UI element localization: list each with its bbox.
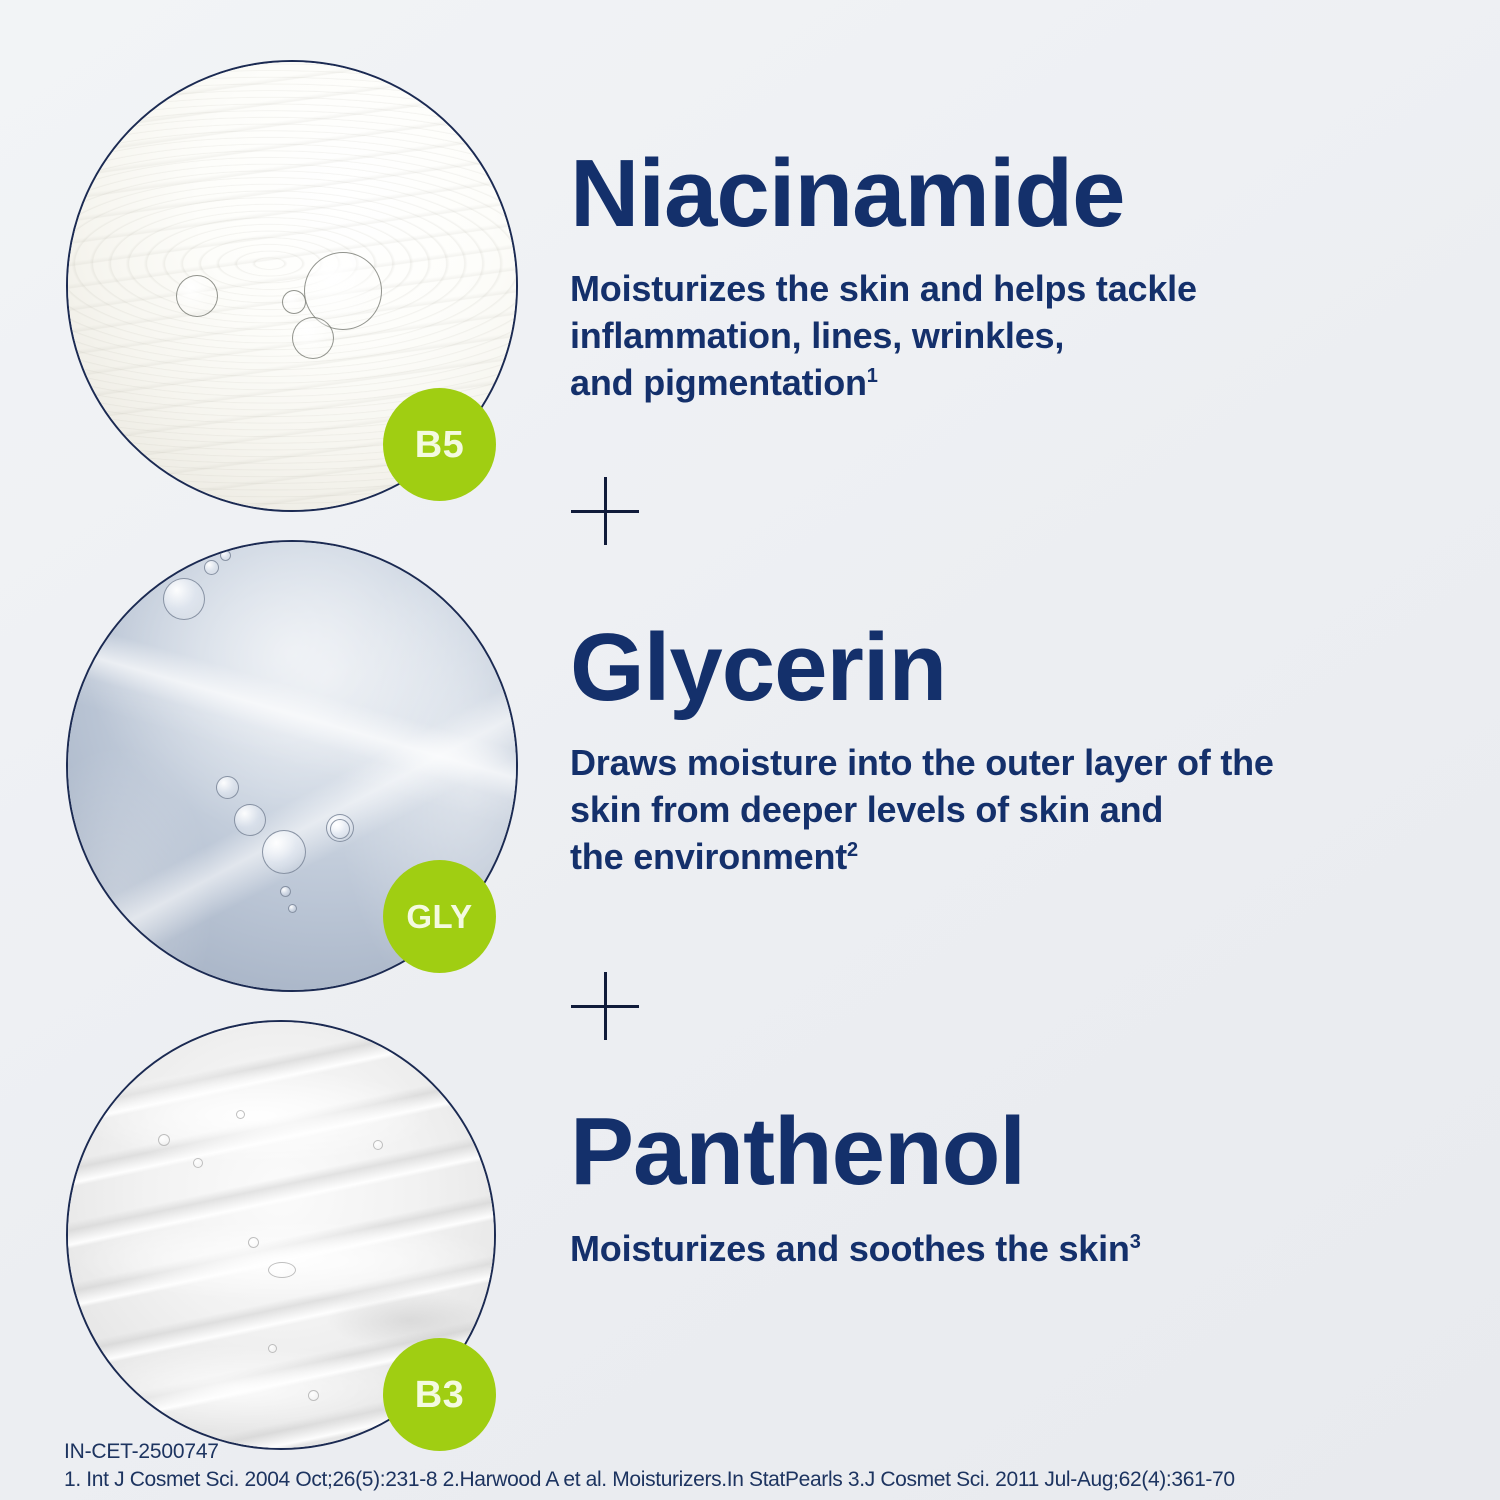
ingredient-block-panthenol: Panthenol Moisturizes and soothes the sk… <box>570 1104 1450 1273</box>
bubble-tiny-1 <box>204 560 219 575</box>
description-line: Draws moisture into the outer layer of t… <box>570 742 1274 783</box>
ingredient-description-panthenol: Moisturizes and soothes the skin3 <box>570 1226 1450 1273</box>
bubble-oval <box>268 1262 296 1278</box>
ingredient-block-glycerin: Glycerin Draws moisture into the outer l… <box>570 620 1470 880</box>
badge-gly: GLY <box>383 860 496 973</box>
ingredient-title-panthenol: Panthenol <box>570 1104 1450 1200</box>
bubble-5 <box>373 1140 383 1150</box>
badge-b3: B3 <box>383 1338 496 1451</box>
bubble-mid-1 <box>216 776 239 799</box>
bubble-medium <box>282 290 306 314</box>
bubble-mid-3 <box>262 830 306 874</box>
bubble-7 <box>308 1390 319 1401</box>
badge-gly-label: GLY <box>406 900 472 933</box>
bubble-2 <box>193 1158 203 1168</box>
badge-b5-label: B5 <box>415 426 465 464</box>
description-line: the environment <box>570 836 847 877</box>
ingredient-description-glycerin: Draws moisture into the outer layer of t… <box>570 740 1470 880</box>
bubble-tiny-3 <box>280 886 291 897</box>
bubble-tiny-4 <box>288 904 297 913</box>
bubble-mid-2 <box>234 804 266 836</box>
bubble-mid-5 <box>330 819 350 839</box>
footnote-ref: 1 <box>867 365 878 387</box>
bubble-4 <box>248 1237 259 1248</box>
badge-b5: B5 <box>383 388 496 501</box>
plus-vertical-bar <box>604 972 607 1040</box>
bubble-top <box>163 578 205 620</box>
description-line: skin from deeper levels of skin and <box>570 789 1163 830</box>
plus-separator-1 <box>571 477 639 545</box>
description-line: inflammation, lines, wrinkles, <box>570 315 1064 356</box>
bubble-tiny-2 <box>220 550 231 561</box>
bubble-6 <box>268 1344 277 1353</box>
footnote-ref: 3 <box>1130 1231 1141 1253</box>
description-line: and pigmentation <box>570 362 867 403</box>
document-code: IN-CET-2500747 <box>64 1440 219 1464</box>
ingredient-title-niacinamide: Niacinamide <box>570 146 1450 242</box>
ingredient-infographic: B5 GLY B3 Niacinamide Moisturizes t <box>0 0 1500 1500</box>
bubble-medium-2 <box>292 317 334 359</box>
ingredient-block-niacinamide: Niacinamide Moisturizes the skin and hel… <box>570 146 1450 406</box>
footnote-references: 1. Int J Cosmet Sci. 2004 Oct;26(5):231-… <box>64 1468 1235 1492</box>
ingredient-description-niacinamide: Moisturizes the skin and helps tackle in… <box>570 266 1450 406</box>
badge-b3-label: B3 <box>415 1376 465 1414</box>
plus-vertical-bar <box>604 477 607 545</box>
description-line: Moisturizes the skin and helps tackle <box>570 268 1197 309</box>
ingredient-title-glycerin: Glycerin <box>570 620 1470 716</box>
bubble-1 <box>158 1134 170 1146</box>
footnote-ref: 2 <box>847 839 858 861</box>
bubble-3 <box>236 1110 245 1119</box>
plus-separator-2 <box>571 972 639 1040</box>
bubble-small <box>176 275 218 317</box>
description-line: Moisturizes and soothes the skin <box>570 1228 1130 1269</box>
